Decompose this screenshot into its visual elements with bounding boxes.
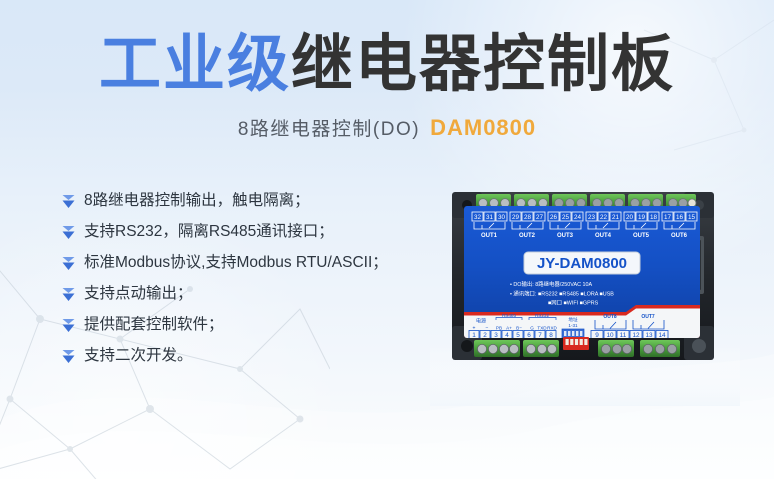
svg-text:OUT1: OUT1 — [481, 233, 498, 239]
list-item: 支持RS232，隔离RS485通讯接口； — [62, 221, 422, 252]
svg-text:17: 17 — [664, 214, 672, 221]
svg-text:■网口 ■WIFI ■GPRS: ■网口 ■WIFI ■GPRS — [548, 300, 599, 307]
svg-text:PB: PB — [496, 326, 502, 331]
svg-text:15: 15 — [688, 214, 696, 221]
svg-text:8: 8 — [549, 332, 553, 339]
double-chevron-down-icon — [62, 283, 84, 307]
list-item: 支持二次开发。 — [62, 345, 422, 376]
double-chevron-down-icon — [62, 314, 84, 338]
svg-text:18: 18 — [650, 214, 658, 221]
svg-text:1: 1 — [472, 332, 476, 339]
list-item-label: 支持二次开发。 — [84, 345, 193, 367]
svg-text:11: 11 — [620, 332, 627, 339]
list-item: 8路继电器控制输出，触电隔离； — [62, 190, 422, 221]
list-item: 提供配套控制软件； — [62, 314, 422, 345]
svg-text:16: 16 — [676, 214, 684, 221]
double-chevron-down-icon — [62, 221, 84, 245]
svg-text:25: 25 — [562, 214, 570, 221]
svg-text:OUT3: OUT3 — [557, 233, 574, 239]
svg-text:3: 3 — [494, 332, 498, 339]
list-item-label: 标准Modbus协议,支持Modbus RTU/ASCII； — [84, 252, 388, 274]
list-item-label: 支持RS232，隔离RS485通讯接口； — [84, 221, 334, 243]
svg-text:21: 21 — [612, 214, 620, 221]
svg-text:10: 10 — [606, 332, 614, 339]
dip-switch — [563, 337, 589, 350]
svg-text:OUT2: OUT2 — [519, 233, 536, 239]
svg-text:OUT7: OUT7 — [641, 314, 655, 320]
svg-text:OUT8: OUT8 — [603, 314, 617, 320]
svg-text:9: 9 — [595, 332, 599, 339]
svg-text:电源: 电源 — [476, 318, 486, 325]
svg-text:13: 13 — [645, 332, 653, 339]
subtitle-description: 8路继电器控制(DO) — [238, 119, 420, 140]
svg-text:地址: 地址 — [568, 316, 578, 322]
svg-text:32: 32 — [474, 214, 482, 221]
double-chevron-down-icon — [62, 252, 84, 276]
double-chevron-down-icon — [62, 345, 84, 369]
relay-board-illustration: 32 31 30 OUT1 29 28 27 OUT2 — [430, 176, 740, 406]
svg-text:30: 30 — [498, 214, 506, 221]
svg-text:27: 27 — [536, 214, 544, 221]
svg-text:RXD: RXD — [547, 326, 557, 331]
page-subtitle: 8路继电器控制(DO)DAM0800 — [0, 117, 774, 139]
subtitle-model-number: DAM0800 — [430, 115, 536, 140]
svg-text:RS232: RS232 — [535, 313, 549, 318]
svg-text:4: 4 — [505, 332, 509, 339]
svg-text:23: 23 — [588, 214, 596, 221]
svg-text:12: 12 — [632, 332, 640, 339]
list-item: 支持点动输出； — [62, 283, 422, 314]
svg-text:RS485: RS485 — [502, 313, 516, 318]
model-label: JY-DAM0800 — [524, 252, 640, 274]
svg-text:OUT4: OUT4 — [595, 233, 612, 239]
svg-text:20: 20 — [626, 214, 634, 221]
svg-text:G: G — [530, 326, 534, 331]
svg-text:OUT6: OUT6 — [671, 233, 688, 239]
svg-text:26: 26 — [550, 214, 558, 221]
list-item-label: 支持点动输出； — [84, 283, 193, 305]
svg-text:OUT5: OUT5 — [633, 233, 650, 239]
svg-text:B−: B− — [516, 326, 522, 331]
feature-list: 8路继电器控制输出，触电隔离； 支持RS232，隔离RS485通讯接口； 标准M… — [62, 190, 422, 376]
svg-text:7: 7 — [538, 332, 542, 339]
svg-text:6: 6 — [527, 332, 531, 339]
svg-text:19: 19 — [638, 214, 646, 221]
product-image: 32 31 30 OUT1 29 28 27 OUT2 — [430, 176, 740, 406]
product-banner: 工业级继电器控制板 8路继电器控制(DO)DAM0800 8路继电器控制输出，触… — [0, 0, 774, 479]
svg-text:2: 2 — [483, 332, 487, 339]
svg-text:1-31: 1-31 — [568, 323, 578, 328]
list-item: 标准Modbus协议,支持Modbus RTU/ASCII； — [62, 252, 422, 283]
svg-text:5: 5 — [516, 332, 520, 339]
svg-text:JY-DAM0800: JY-DAM0800 — [537, 255, 627, 272]
svg-text:14: 14 — [658, 332, 666, 339]
svg-text:• DO输出: 8路继电器/250VAC 10A: • DO输出: 8路继电器/250VAC 10A — [510, 280, 592, 288]
svg-text:28: 28 — [524, 214, 532, 221]
svg-text:24: 24 — [574, 214, 582, 221]
double-chevron-down-icon — [62, 190, 84, 214]
svg-text:31: 31 — [486, 214, 494, 221]
svg-text:TXD: TXD — [537, 326, 547, 331]
title-highlight: 工业级 — [99, 30, 291, 99]
list-item-label: 提供配套控制软件； — [84, 314, 224, 336]
page-title: 工业级继电器控制板 — [0, 34, 774, 96]
svg-text:A+: A+ — [506, 326, 512, 331]
svg-text:29: 29 — [512, 214, 520, 221]
list-item-label: 8路继电器控制输出，触电隔离； — [84, 190, 310, 212]
svg-text:22: 22 — [600, 214, 608, 221]
svg-text:• 通讯端口: ■RS232 ■RS485 ■LORA ■U: • 通讯端口: ■RS232 ■RS485 ■LORA ■USB — [510, 290, 614, 298]
title-main: 继电器控制板 — [291, 30, 675, 99]
